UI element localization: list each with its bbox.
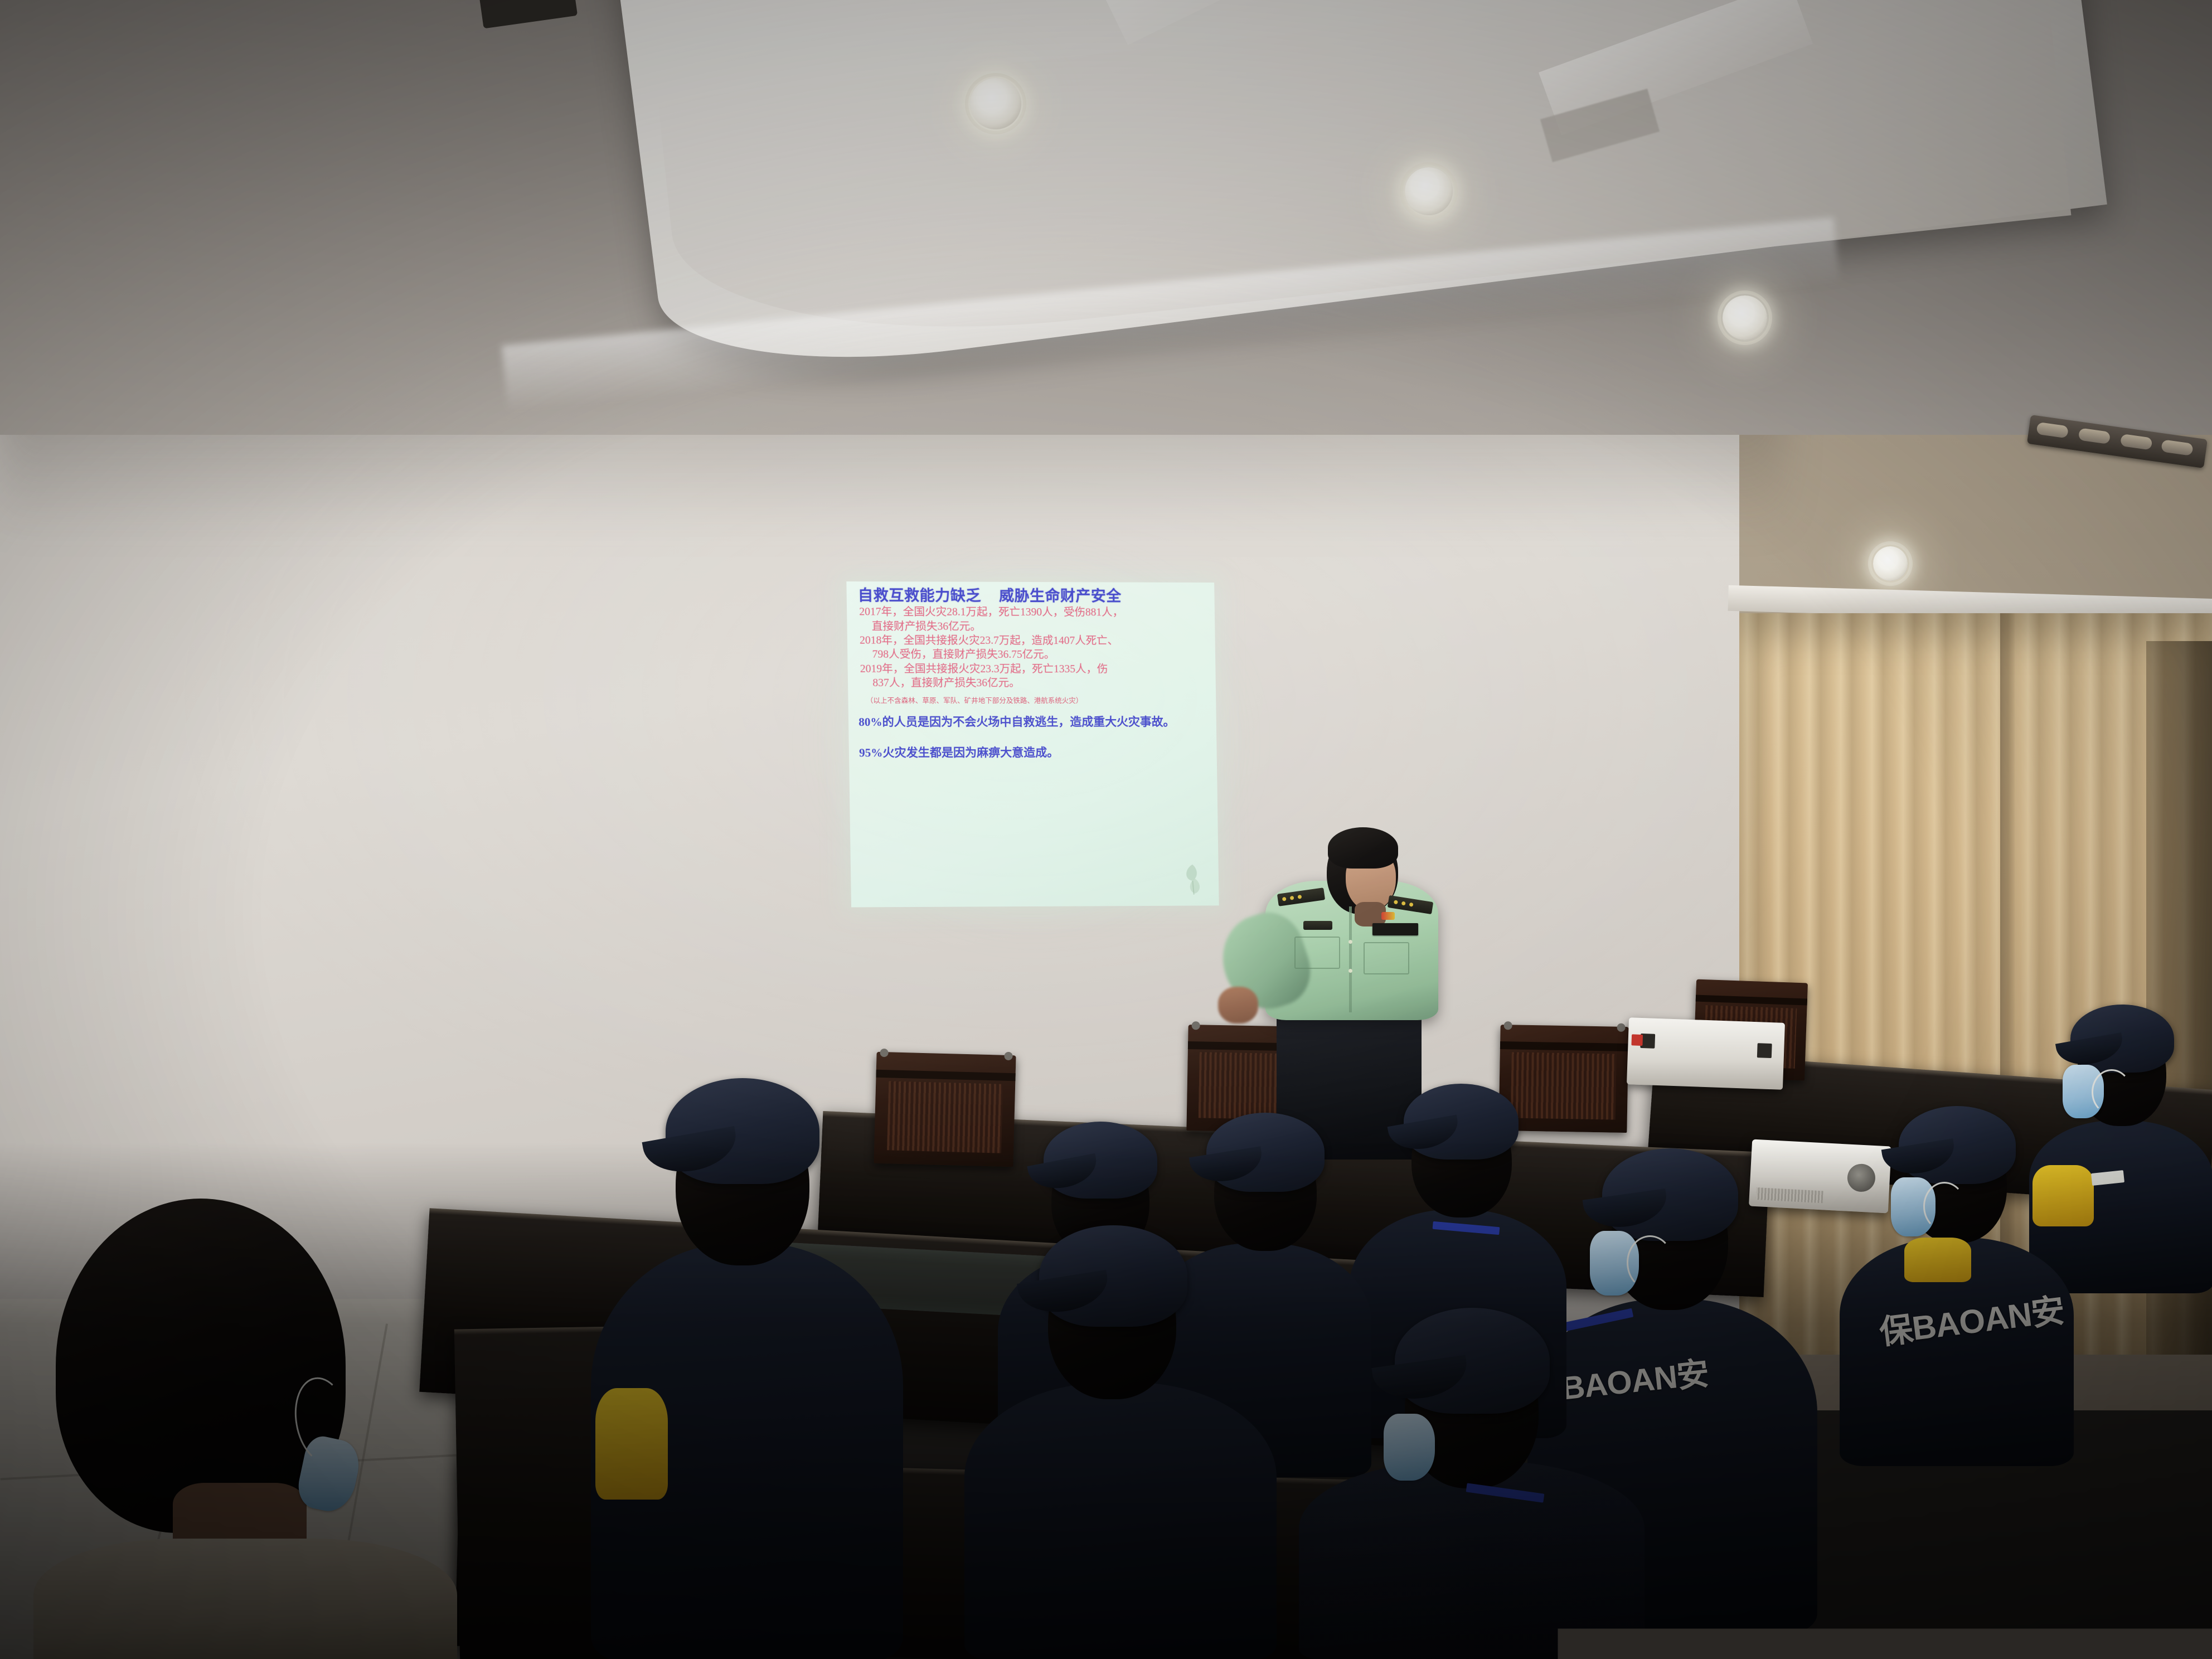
chair-slats xyxy=(887,1081,1003,1153)
guard-cap xyxy=(1206,1113,1325,1192)
foreground-shirt xyxy=(33,1539,457,1659)
guard-cap xyxy=(666,1078,819,1184)
presenter-chest-insignia xyxy=(1303,921,1332,930)
ceiling-light-2 xyxy=(1405,167,1453,215)
shirt-button-1 xyxy=(1348,940,1352,944)
slide-statistics: 2017年，全国火灾28.1万起，死亡1390人，受伤881人， 直接财产损失3… xyxy=(855,605,1208,690)
presenter-shirt-placket xyxy=(1349,906,1352,1012)
stat-2018-line2: 798人受伤，直接财产损失36.75亿元。 xyxy=(860,648,1207,662)
guard-cap xyxy=(1404,1084,1519,1160)
guard-cap xyxy=(1602,1148,1738,1241)
light-bulb xyxy=(970,78,1021,129)
cap-brim xyxy=(642,1126,741,1178)
mask-ear-strap xyxy=(2092,1069,2132,1115)
audience-member-front-center xyxy=(1299,1299,1645,1659)
guard-hi-vis-shoulder xyxy=(1904,1238,1971,1282)
stat-2019-line1: 2019年，全国共接报火灾23.3万起，死亡1335人，伤 xyxy=(860,662,1208,676)
cap-brim xyxy=(2055,1032,2126,1069)
presenter-pocket-right xyxy=(1364,942,1409,974)
slide-highlight-1: 80%的人员是因为不会火场中自救逃生，造成重大火灾事故。 xyxy=(856,715,1209,730)
mask-ear-strap xyxy=(1923,1182,1966,1231)
ceiling-light-1 xyxy=(970,78,1021,129)
stat-2017-line1: 2017年，全国火灾28.1万起，死亡1390人，受伤881人， xyxy=(859,605,1207,620)
ceiling-light-3 xyxy=(1723,295,1767,340)
leaf-decoration-icon xyxy=(1176,862,1209,897)
light-bulb xyxy=(1723,295,1767,340)
guard-cap xyxy=(2070,1005,2174,1073)
guard-hi-vis-shoulder xyxy=(595,1388,668,1500)
guard-face-mask xyxy=(1384,1414,1435,1481)
presenter-hair xyxy=(1328,827,1398,869)
cap-brim xyxy=(1371,1355,1471,1404)
mask-ear-strap xyxy=(1627,1235,1673,1290)
foreground-person xyxy=(33,1193,457,1659)
slide-footnote: （以上不含森林、草原、军队、矿井地下部分及铁路、港航系统火灾） xyxy=(856,696,1209,706)
guard-cap xyxy=(1899,1106,2016,1184)
shirt-button-2 xyxy=(1348,969,1352,973)
light-bulb xyxy=(1405,167,1453,215)
presenter-nametag xyxy=(1372,923,1418,935)
cap-brim xyxy=(1388,1114,1462,1154)
slide-title-right: 威胁生命财产安全 xyxy=(999,588,1122,605)
meeting-room-photo: 自救互救能力缺乏威胁生命财产安全 2017年，全国火灾28.1万起，死亡1390… xyxy=(0,0,2212,1659)
stat-2017-line2: 直接财产损失36亿元。 xyxy=(860,619,1207,634)
stat-2019-line2: 837人，直接财产损失36亿元。 xyxy=(860,676,1208,691)
ceiling-light-4 xyxy=(1873,546,1908,581)
audience-member-right-mid: 保BAOAN安 xyxy=(1840,1076,2074,1466)
audience-member-front-left xyxy=(964,1210,1277,1659)
projected-slide: 自救互救能力缺乏威胁生命财产安全 2017年，全国火灾28.1万起，死亡1390… xyxy=(846,581,1219,908)
slide-title: 自救互救能力缺乏威胁生命财产安全 xyxy=(855,587,1207,605)
light-bulb xyxy=(1873,546,1908,581)
guard-cap xyxy=(1395,1308,1550,1414)
stat-2018-line1: 2018年，全国共接报火灾23.7万起，造成1407人死亡、 xyxy=(860,633,1207,648)
equipment-case xyxy=(1627,1017,1785,1090)
guard-cap xyxy=(1039,1225,1187,1327)
guard-cap xyxy=(1044,1122,1157,1199)
cap-brim xyxy=(1017,1270,1112,1318)
slide-highlight-2: 95%火灾发生都是因为麻痹大意造成。 xyxy=(857,746,1209,760)
case-clasp-right xyxy=(1757,1043,1772,1058)
presenter-hand xyxy=(1218,987,1258,1023)
cap-brim xyxy=(1583,1189,1670,1232)
cap-brim xyxy=(1027,1153,1100,1194)
guard-torso xyxy=(964,1382,1277,1659)
audience-member-left-front xyxy=(591,1042,903,1659)
presenter-flag-pin xyxy=(1381,912,1395,920)
cap-brim xyxy=(1881,1138,1958,1178)
slide-title-left: 自救互救能力缺乏 xyxy=(858,587,982,604)
presenter-pocket-left xyxy=(1294,937,1340,969)
case-red-marker xyxy=(1631,1034,1643,1046)
